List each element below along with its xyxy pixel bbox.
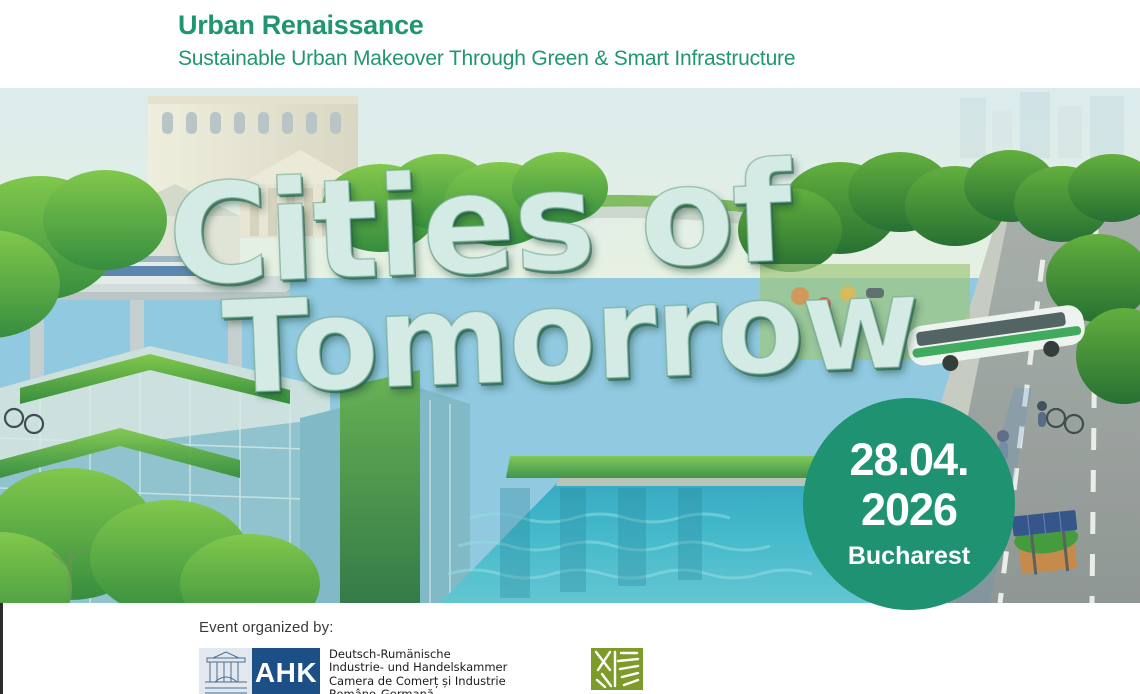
event-city: Bucharest xyxy=(848,539,970,573)
ahk-wordmark: AHK xyxy=(252,648,320,694)
ahk-logo-text: Deutsch-Rumänische Industrie- und Handel… xyxy=(329,648,507,694)
logo-econet[interactable]: econetromania xyxy=(591,648,798,694)
organizer-logos: AHK Deutsch-Rumänische Industrie- und Ha… xyxy=(199,648,798,694)
footer: Event organized by: xyxy=(0,603,1140,694)
ahk-line-2: Industrie- und Handelskammer xyxy=(329,661,507,674)
organized-by-label: Event organized by: xyxy=(199,619,333,636)
event-date-day: 28.04. xyxy=(849,435,968,485)
poster-page: Urban Renaissance Sustainable Urban Make… xyxy=(0,0,1140,694)
header: Urban Renaissance Sustainable Urban Make… xyxy=(0,0,1140,88)
hero-headline-line-2: Tomorrow xyxy=(220,264,914,408)
ahk-line-1: Deutsch-Rumänische xyxy=(329,648,507,661)
logo-ahk[interactable]: AHK Deutsch-Rumänische Industrie- und Ha… xyxy=(199,648,507,694)
ahk-line-3: Camera de Comerț și Industrie xyxy=(329,675,507,688)
page-title: Urban Renaissance xyxy=(178,8,1140,42)
hero-headline: Cities of Tomorrow xyxy=(146,145,915,411)
econet-leaf-icon xyxy=(591,648,643,690)
date-badge: 28.04. 2026 Bucharest xyxy=(803,398,1015,610)
ahk-line-4: Româno-Germană xyxy=(329,688,507,694)
brandenburg-gate-icon xyxy=(199,648,252,694)
event-date-year: 2026 xyxy=(861,485,957,535)
page-subtitle: Sustainable Urban Makeover Through Green… xyxy=(178,44,1140,74)
ahk-logo-mark: AHK xyxy=(199,648,320,694)
